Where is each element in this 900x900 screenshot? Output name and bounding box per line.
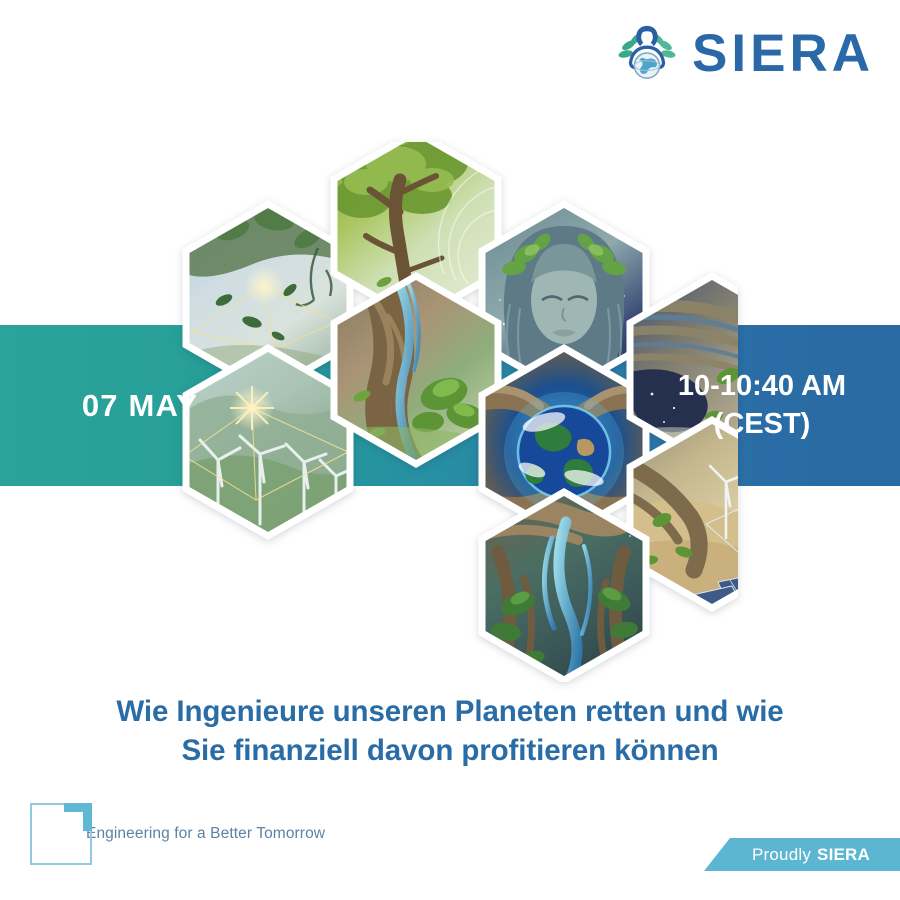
page-title: Wie Ingenieure unseren Planeten retten u… — [0, 692, 900, 770]
proudly-prefix: Proudly — [752, 845, 811, 865]
event-time-line1: 10-10:40 AM — [678, 368, 846, 405]
event-date: 07 MAY — [0, 325, 300, 486]
page-title-line2: Sie finanziell davon profitieren können — [0, 731, 900, 770]
hex-tile-bottom-roots — [468, 492, 654, 680]
page-title-line1: Wie Ingenieure unseren Planeten retten u… — [0, 692, 900, 731]
poster-canvas: SIERA 07 MAY 10-10:40 AM (CEST) — [0, 0, 900, 900]
brand-header: SIERA — [616, 22, 874, 84]
footer-tagline: Engineering for a Better Tomorrow — [86, 825, 325, 843]
event-time-line2: (CEST) — [714, 406, 811, 443]
square-corner-bracket-icon — [30, 803, 92, 865]
brand-wordmark: SIERA — [692, 27, 874, 80]
proudly-siera-badge: Proudly SIERA — [704, 838, 900, 871]
event-time: 10-10:40 AM (CEST) — [632, 325, 892, 486]
proudly-brand: SIERA — [817, 845, 870, 865]
siera-logo-icon — [616, 22, 678, 84]
footer-brand-block: Engineering for a Better Tomorrow — [30, 803, 325, 865]
